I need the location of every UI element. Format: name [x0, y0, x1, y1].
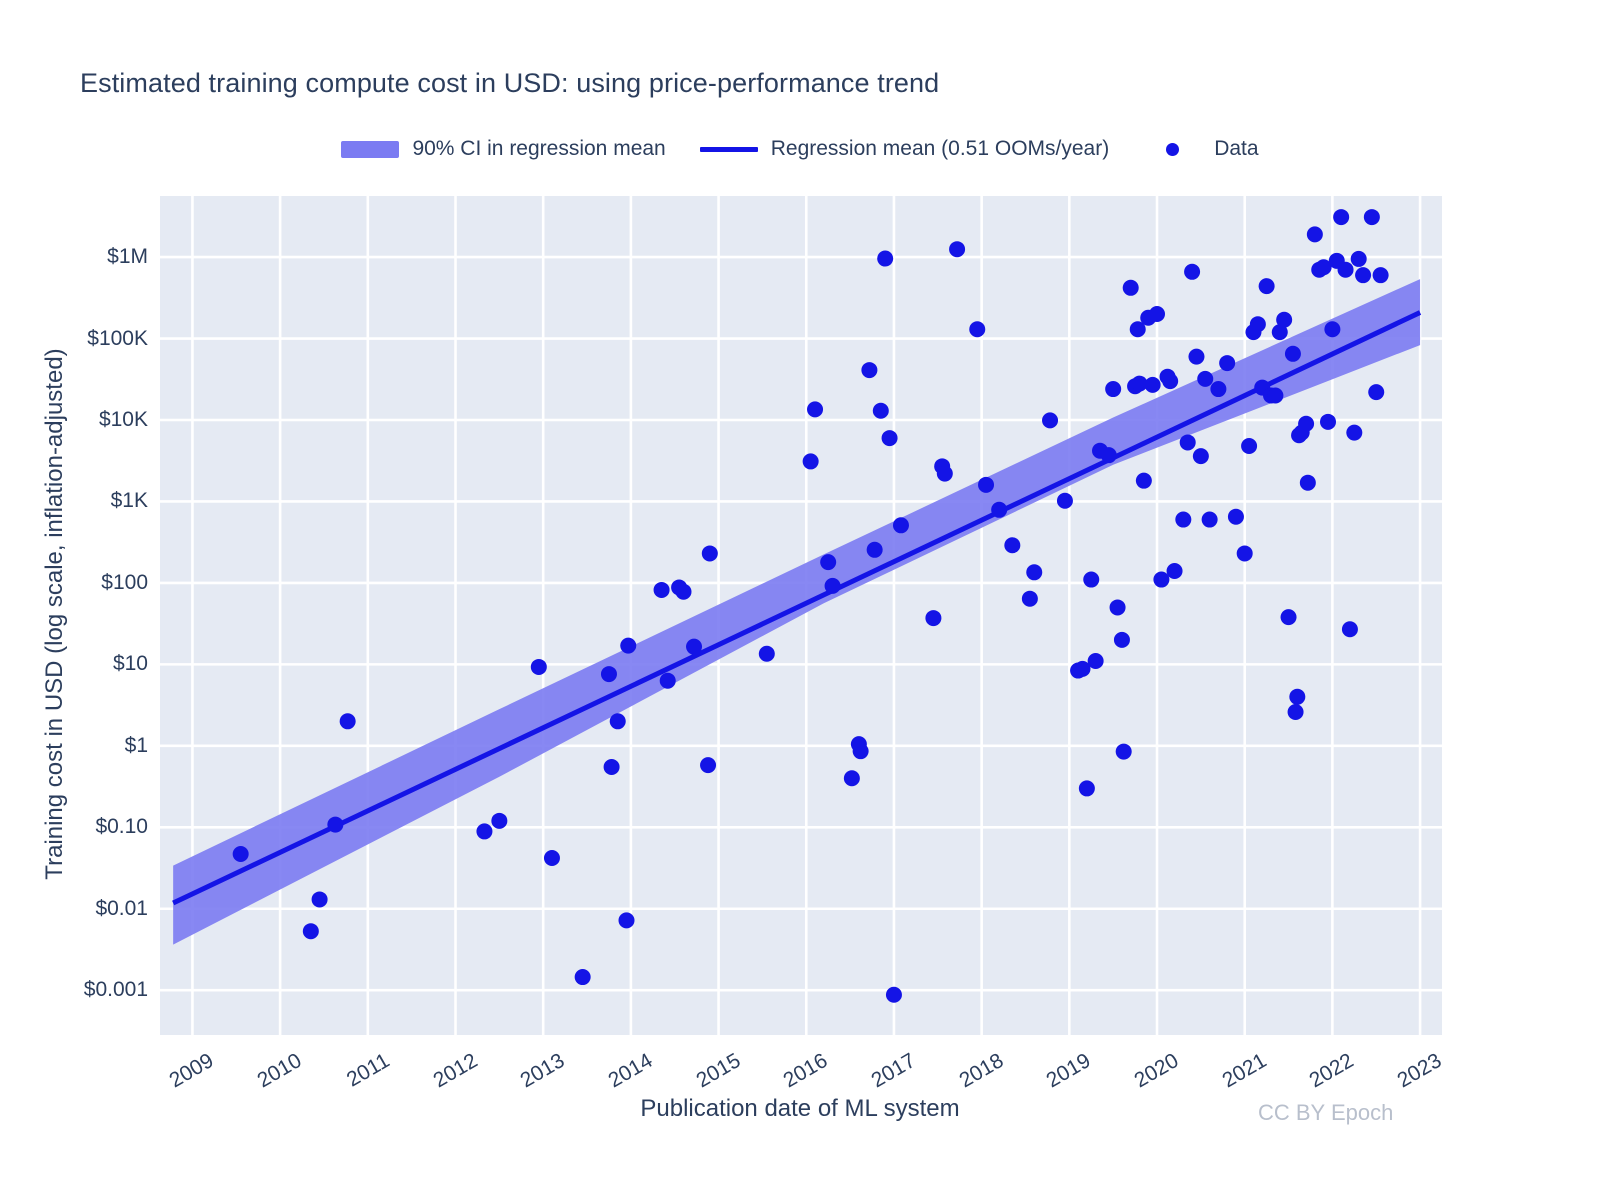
data-point [476, 823, 492, 839]
data-point [1368, 384, 1384, 400]
legend-label-ci: 90% CI in regression mean [412, 137, 665, 161]
data-point [660, 673, 676, 689]
data-point [893, 517, 909, 533]
data-point [1228, 509, 1244, 525]
data-point [654, 582, 670, 598]
data-point [1004, 537, 1020, 553]
chart-legend: 90% CI in regression mean Regression mea… [0, 137, 1600, 161]
data-point [1079, 780, 1095, 796]
data-point [886, 987, 902, 1003]
data-point [1259, 278, 1275, 294]
data-point [1342, 621, 1358, 637]
data-point [937, 466, 953, 482]
data-point [619, 912, 635, 928]
data-point [1373, 267, 1389, 283]
data-point [700, 757, 716, 773]
regression-line [173, 312, 1420, 903]
data-point [803, 453, 819, 469]
data-point [1298, 416, 1314, 432]
plot-area [160, 196, 1442, 1035]
data-point [1145, 377, 1161, 393]
data-point [861, 362, 877, 378]
data-point [1193, 448, 1209, 464]
plot-svg [160, 196, 1442, 1035]
data-point [1351, 251, 1367, 267]
data-point [759, 646, 775, 662]
data-point [949, 241, 965, 257]
confidence-band [173, 279, 1420, 944]
data-point [702, 545, 718, 561]
data-point [853, 743, 869, 759]
legend-item-ci[interactable]: 90% CI in regression mean [341, 137, 665, 161]
data-point [1276, 312, 1292, 328]
data-point [1338, 262, 1354, 278]
y-tick-label: $0.01 [95, 897, 148, 921]
data-point [1307, 226, 1323, 242]
data-point [1219, 355, 1235, 371]
y-tick-label: $1K [111, 489, 148, 513]
data-point [312, 891, 328, 907]
data-point [844, 770, 860, 786]
data-point [1042, 412, 1058, 428]
data-point [1153, 572, 1169, 588]
data-point [1281, 609, 1297, 625]
data-point [1324, 321, 1340, 337]
chart-container: Estimated training compute cost in USD: … [0, 0, 1600, 1200]
data-point [1364, 209, 1380, 225]
data-point [1346, 425, 1362, 441]
data-point [544, 850, 560, 866]
data-point [1210, 381, 1226, 397]
data-point [610, 713, 626, 729]
data-point [1333, 209, 1349, 225]
legend-label-regression: Regression mean (0.51 OOMs/year) [771, 137, 1109, 161]
data-point [1167, 563, 1183, 579]
legend-swatch-line-icon [700, 147, 758, 152]
y-tick-label: $1M [107, 245, 148, 269]
data-point [1355, 267, 1371, 283]
data-point [1057, 493, 1073, 509]
data-point [1116, 744, 1132, 760]
data-point [1197, 371, 1213, 387]
data-point [991, 502, 1007, 518]
data-point [873, 403, 889, 419]
legend-swatch-dot-icon [1143, 143, 1201, 156]
data-point [233, 846, 249, 862]
data-point [1149, 306, 1165, 322]
data-point [1026, 564, 1042, 580]
data-point [303, 923, 319, 939]
data-point [1101, 447, 1117, 463]
y-tick-label: $10 [113, 652, 148, 676]
data-point [1088, 653, 1104, 669]
data-point [867, 542, 883, 558]
data-point [601, 666, 617, 682]
legend-swatch-band-icon [341, 141, 399, 158]
data-point [969, 321, 985, 337]
data-point [1250, 316, 1266, 332]
data-point [1110, 599, 1126, 615]
data-point [825, 578, 841, 594]
data-point [1162, 373, 1178, 389]
y-tick-label: $10K [99, 408, 148, 432]
data-point [1123, 280, 1139, 296]
data-point [1022, 591, 1038, 607]
data-point [686, 639, 702, 655]
data-point [978, 477, 994, 493]
data-point [1184, 264, 1200, 280]
data-point [620, 638, 636, 654]
data-point [877, 251, 893, 267]
data-point [1114, 632, 1130, 648]
legend-label-data: Data [1214, 137, 1258, 161]
data-point [1241, 438, 1257, 454]
legend-item-regression[interactable]: Regression mean (0.51 OOMs/year) [700, 137, 1109, 161]
data-point [1105, 381, 1121, 397]
credit-label: CC BY Epoch [1258, 1100, 1393, 1126]
data-point [1188, 349, 1204, 365]
data-point [531, 659, 547, 675]
data-point [1320, 414, 1336, 430]
y-tick-label: $1 [125, 734, 148, 758]
data-point [882, 430, 898, 446]
data-point [340, 713, 356, 729]
data-point [1285, 346, 1301, 362]
y-tick-label: $0.10 [95, 815, 148, 839]
data-point [1175, 512, 1191, 528]
data-point [1237, 545, 1253, 561]
data-point [491, 813, 507, 829]
data-point [925, 610, 941, 626]
y-axis-title: Training cost in USD (log scale, inflati… [41, 264, 69, 964]
data-point [675, 584, 691, 600]
data-point [1202, 512, 1218, 528]
data-point [1300, 475, 1316, 491]
data-point [1267, 387, 1283, 403]
data-point [1288, 704, 1304, 720]
y-tick-label: $0.001 [84, 978, 148, 1002]
data-point [1289, 689, 1305, 705]
gridlines [160, 196, 1442, 1035]
data-point [1136, 473, 1152, 489]
data-point [575, 969, 591, 985]
y-tick-label: $100K [87, 327, 148, 351]
data-point [1083, 572, 1099, 588]
data-point [807, 401, 823, 417]
y-tick-label: $100 [101, 571, 148, 595]
data-point [1180, 434, 1196, 450]
data-point [604, 759, 620, 775]
data-point [820, 554, 836, 570]
legend-item-data[interactable]: Data [1143, 137, 1258, 161]
chart-title: Estimated training compute cost in USD: … [80, 68, 939, 99]
data-point [327, 817, 343, 833]
